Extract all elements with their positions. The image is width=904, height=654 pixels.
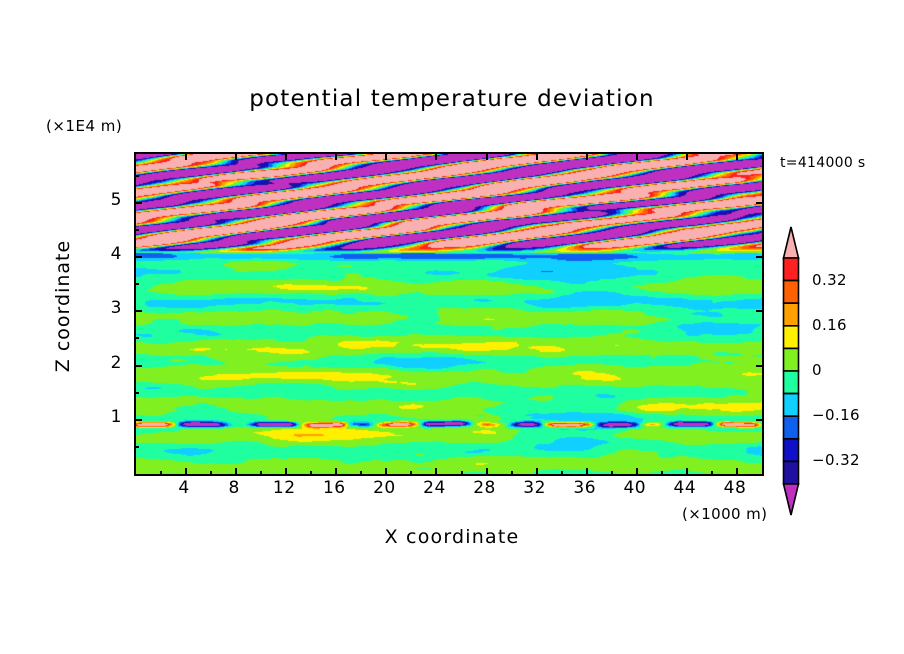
y-tick-mark bbox=[134, 365, 142, 367]
colorbar-swatch bbox=[784, 371, 799, 394]
x-tick-mark bbox=[686, 468, 688, 476]
x-tick-label: 24 bbox=[412, 478, 456, 498]
x-minor-tick bbox=[511, 471, 513, 476]
contour-field bbox=[136, 154, 762, 474]
x-minor-tick bbox=[410, 471, 412, 476]
x-tick-label: 16 bbox=[312, 478, 356, 498]
x-tick-label: 8 bbox=[212, 478, 256, 498]
x-tick-label: 4 bbox=[162, 478, 206, 498]
colorbar-arrow-top bbox=[784, 227, 799, 258]
y-minor-tick bbox=[134, 337, 139, 339]
figure-root: potential temperature deviation (×1E4 m)… bbox=[0, 0, 904, 654]
x-tick-mark bbox=[586, 152, 588, 160]
x-tick-mark bbox=[285, 152, 287, 160]
y-unit-label: (×1E4 m) bbox=[46, 117, 122, 135]
y-minor-tick bbox=[134, 283, 139, 285]
y-tick-mark bbox=[756, 310, 764, 312]
x-tick-label: 48 bbox=[713, 478, 757, 498]
colorbar[interactable] bbox=[776, 226, 806, 516]
y-tick-label: 5 bbox=[96, 190, 122, 210]
x-tick-mark bbox=[385, 152, 387, 160]
x-minor-tick bbox=[160, 471, 162, 476]
x-tick-mark bbox=[235, 468, 237, 476]
colorbar-swatch bbox=[784, 258, 799, 281]
x-tick-label: 44 bbox=[663, 478, 707, 498]
y-tick-mark bbox=[134, 310, 142, 312]
y-tick-label: 4 bbox=[96, 244, 122, 264]
x-minor-tick bbox=[310, 471, 312, 476]
y-axis-title: Z coordinate bbox=[52, 226, 74, 386]
x-tick-mark bbox=[736, 152, 738, 160]
x-minor-tick bbox=[260, 471, 262, 476]
x-tick-mark bbox=[185, 152, 187, 160]
x-minor-tick bbox=[711, 471, 713, 476]
x-tick-label: 32 bbox=[513, 478, 557, 498]
x-tick-label: 36 bbox=[563, 478, 607, 498]
colorbar-swatch bbox=[784, 416, 799, 439]
x-minor-tick bbox=[210, 471, 212, 476]
colorbar-swatch bbox=[784, 303, 799, 326]
y-tick-label: 3 bbox=[96, 298, 122, 318]
x-tick-mark bbox=[435, 152, 437, 160]
x-axis-title: X coordinate bbox=[232, 526, 672, 548]
y-tick-mark bbox=[134, 202, 142, 204]
y-tick-mark bbox=[756, 419, 764, 421]
x-tick-mark bbox=[486, 152, 488, 160]
y-tick-label: 1 bbox=[96, 407, 122, 427]
y-tick-mark bbox=[134, 256, 142, 258]
x-tick-label: 12 bbox=[262, 478, 306, 498]
colorbar-swatch bbox=[784, 348, 799, 371]
x-minor-tick bbox=[561, 471, 563, 476]
colorbar-swatch bbox=[784, 281, 799, 304]
x-tick-label: 28 bbox=[463, 478, 507, 498]
y-minor-tick bbox=[134, 446, 139, 448]
page-title: potential temperature deviation bbox=[0, 86, 904, 112]
y-minor-tick bbox=[134, 392, 139, 394]
x-tick-mark bbox=[736, 468, 738, 476]
plot-panel bbox=[134, 152, 764, 476]
colorbar-arrow-bottom bbox=[784, 484, 799, 515]
x-tick-mark bbox=[235, 152, 237, 160]
colorbar-tick-label: 0.32 bbox=[812, 271, 847, 289]
colorbar-tick-label: 0.16 bbox=[812, 316, 847, 334]
colorbar-swatch bbox=[784, 326, 799, 349]
x-tick-label: 40 bbox=[613, 478, 657, 498]
colorbar-tick-label: −0.16 bbox=[812, 406, 860, 424]
colorbar-tick-label: −0.32 bbox=[812, 451, 860, 469]
x-tick-mark bbox=[686, 152, 688, 160]
x-tick-mark bbox=[636, 152, 638, 160]
x-minor-tick bbox=[461, 471, 463, 476]
colorbar-swatch bbox=[784, 394, 799, 417]
x-minor-tick bbox=[360, 471, 362, 476]
x-tick-mark bbox=[636, 468, 638, 476]
x-minor-tick bbox=[661, 471, 663, 476]
x-minor-tick bbox=[611, 471, 613, 476]
y-minor-tick bbox=[134, 175, 139, 177]
x-tick-mark bbox=[536, 468, 538, 476]
y-tick-mark bbox=[756, 256, 764, 258]
x-tick-mark bbox=[486, 468, 488, 476]
y-tick-mark bbox=[756, 202, 764, 204]
x-tick-mark bbox=[586, 468, 588, 476]
y-minor-tick bbox=[134, 229, 139, 231]
x-tick-mark bbox=[285, 468, 287, 476]
y-tick-mark bbox=[756, 365, 764, 367]
colorbar-tick-label: 0 bbox=[812, 361, 822, 379]
x-tick-mark bbox=[536, 152, 538, 160]
y-tick-label: 2 bbox=[96, 353, 122, 373]
x-tick-mark bbox=[385, 468, 387, 476]
x-tick-mark bbox=[435, 468, 437, 476]
x-tick-mark bbox=[185, 468, 187, 476]
x-tick-label: 20 bbox=[362, 478, 406, 498]
timestamp-annotation: t=414000 s bbox=[780, 155, 865, 171]
x-tick-mark bbox=[335, 152, 337, 160]
y-tick-mark bbox=[134, 419, 142, 421]
colorbar-swatch bbox=[784, 439, 799, 462]
x-tick-mark bbox=[335, 468, 337, 476]
x-unit-label: (×1000 m) bbox=[682, 505, 767, 523]
colorbar-swatch bbox=[784, 461, 799, 484]
